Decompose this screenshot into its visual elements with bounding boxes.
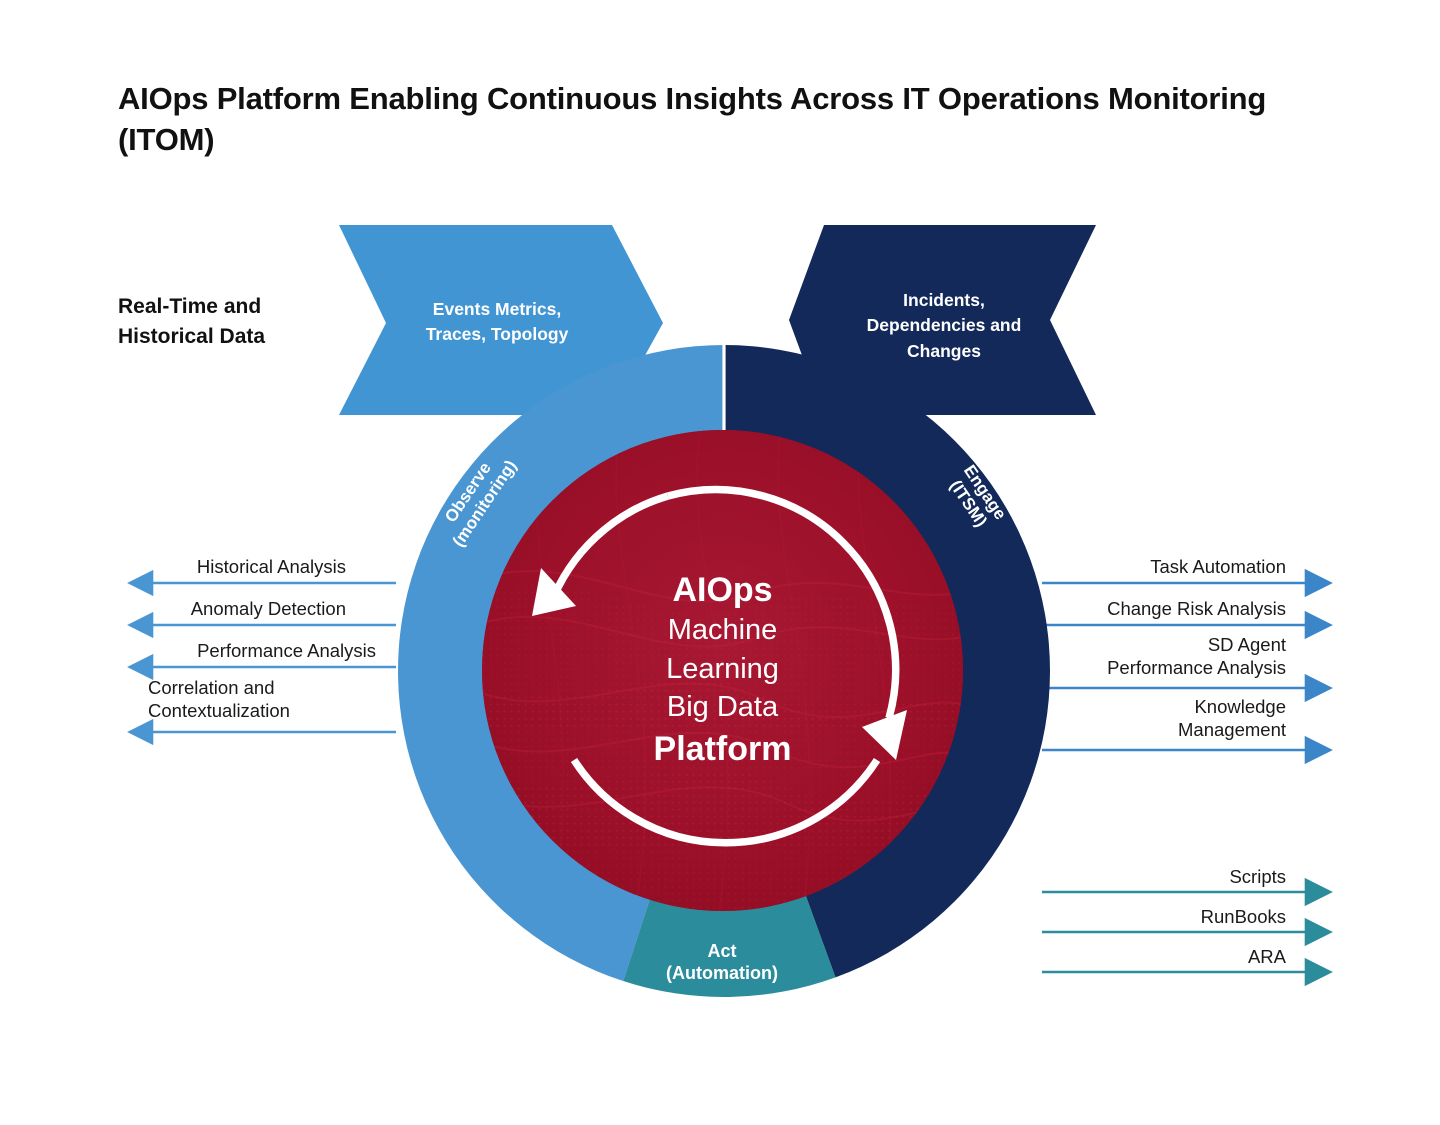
right-bottom-output-label-2: RunBooks <box>1050 906 1286 929</box>
left-output-label-1: Historical Analysis <box>118 556 346 579</box>
left-input-chevron-label: Events Metrics, Traces, Topology <box>392 297 602 348</box>
core-texture <box>482 430 963 911</box>
aiops-core-circle[interactable] <box>482 430 963 911</box>
right-top-output-label-4: Knowledge Management <box>1030 696 1286 741</box>
right-top-output-label-3: SD Agent Performance Analysis <box>1030 634 1286 679</box>
left-output-label-4: Correlation and Contextualization <box>148 677 408 722</box>
right-bottom-output-label-3: ARA <box>1050 946 1286 969</box>
real-time-historical-data-label: Real-Time and Historical Data <box>118 292 348 352</box>
left-output-label-3: Performance Analysis <box>118 640 376 663</box>
page-title: AIOps Platform Enabling Continuous Insig… <box>118 78 1328 160</box>
right-top-output-label-2: Change Risk Analysis <box>1050 598 1286 621</box>
diagram-canvas: AIOps Platform Enabling Continuous Insig… <box>0 0 1440 1125</box>
left-output-label-2: Anomaly Detection <box>118 598 346 621</box>
right-top-output-label-1: Task Automation <box>1050 556 1286 579</box>
right-bottom-output-label-1: Scripts <box>1050 866 1286 889</box>
